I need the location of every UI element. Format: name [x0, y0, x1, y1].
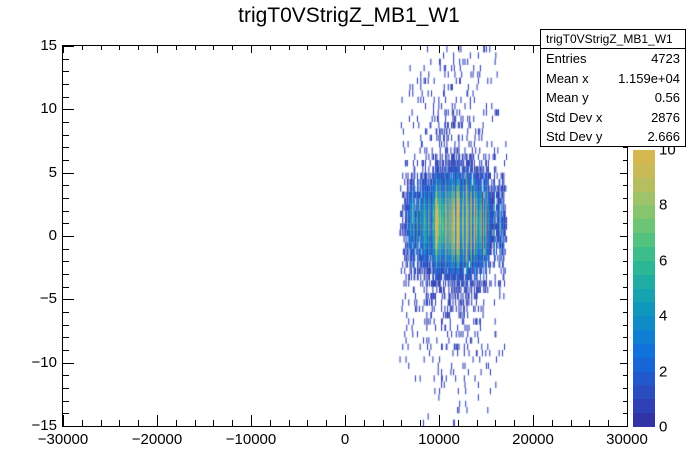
stats-row: Std Dev x2876	[541, 108, 685, 128]
colorbar-segment	[633, 260, 655, 274]
x-minor-tick	[589, 420, 590, 426]
x-major-tick-top	[157, 46, 158, 53]
colorbar-segment	[633, 413, 655, 427]
x-minor-tick-top	[326, 46, 327, 50]
x-major-tick	[627, 415, 628, 426]
plot-canvas: trigT0VStrigZ_MB1_W1 −30000−20000−100000…	[0, 0, 698, 476]
x-minor-tick	[608, 420, 609, 426]
y-major-tick-right	[620, 426, 627, 427]
x-axis-label: 0	[300, 431, 390, 448]
x-minor-tick-top	[82, 46, 83, 50]
x-major-tick	[439, 415, 440, 426]
colorbar-segment	[633, 150, 655, 164]
colorbar-segment	[633, 302, 655, 316]
y-minor-tick-right	[623, 350, 627, 351]
x-minor-tick-top	[213, 46, 214, 50]
y-minor-tick	[63, 59, 69, 60]
colorbar-segment	[633, 371, 655, 385]
y-minor-tick	[63, 122, 69, 123]
y-minor-tick	[63, 198, 69, 199]
y-minor-tick-right	[623, 223, 627, 224]
x-minor-tick-top	[195, 46, 196, 50]
y-major-tick-right	[620, 236, 627, 237]
y-minor-tick-right	[623, 185, 627, 186]
x-minor-tick-top	[119, 46, 120, 50]
x-minor-tick	[364, 420, 365, 426]
x-major-tick	[533, 415, 534, 426]
colorbar-segment	[633, 219, 655, 233]
x-minor-tick	[458, 420, 459, 426]
y-minor-tick	[63, 287, 69, 288]
y-minor-tick	[63, 249, 69, 250]
x-minor-tick	[477, 420, 478, 426]
y-minor-tick-right	[623, 413, 627, 414]
colorbar-segment	[633, 316, 655, 330]
y-minor-tick	[63, 350, 69, 351]
x-minor-tick-top	[138, 46, 139, 50]
y-minor-tick	[63, 71, 69, 72]
y-minor-tick	[63, 84, 69, 85]
stats-box: trigT0VStrigZ_MB1_W1 Entries4723Mean x1.…	[540, 29, 686, 147]
x-major-tick-top	[251, 46, 252, 53]
colorbar-segment	[633, 344, 655, 358]
x-minor-tick	[401, 420, 402, 426]
y-minor-tick	[63, 388, 69, 389]
stats-value: 2.666	[647, 127, 680, 147]
stats-box-title: trigT0VStrigZ_MB1_W1	[541, 30, 685, 49]
colorbar	[633, 150, 655, 427]
stats-value: 4723	[651, 49, 680, 69]
x-minor-tick	[383, 420, 384, 426]
y-minor-tick	[63, 274, 69, 275]
stats-row: Mean x1.159e+04	[541, 69, 685, 89]
x-major-tick-top	[345, 46, 346, 53]
y-major-tick-right	[620, 299, 627, 300]
page-title: trigT0VStrigZ_MB1_W1	[0, 4, 698, 28]
x-minor-tick	[82, 420, 83, 426]
stats-row: Std Dev y2.666	[541, 127, 685, 147]
y-minor-tick-right	[623, 287, 627, 288]
x-minor-tick	[176, 420, 177, 426]
x-major-tick	[157, 415, 158, 426]
colorbar-tick-label: 4	[659, 308, 667, 325]
y-axis-label: −10	[11, 354, 57, 371]
y-minor-tick	[63, 261, 69, 262]
x-minor-tick-top	[232, 46, 233, 50]
y-axis-label: 0	[11, 227, 57, 244]
x-major-tick	[63, 415, 64, 426]
y-minor-tick-right	[623, 147, 627, 148]
x-minor-tick	[307, 420, 308, 426]
x-axis-label: 10000	[394, 431, 484, 448]
x-minor-tick-top	[176, 46, 177, 50]
y-major-tick	[63, 46, 74, 47]
y-minor-tick	[63, 135, 69, 136]
x-minor-tick	[514, 420, 515, 426]
y-minor-tick	[63, 401, 69, 402]
x-minor-tick	[270, 420, 271, 426]
colorbar-segment	[633, 288, 655, 302]
stats-key: Std Dev x	[546, 108, 602, 128]
y-minor-tick-right	[623, 261, 627, 262]
y-axis-label: −15	[11, 417, 57, 434]
x-minor-tick-top	[383, 46, 384, 50]
x-minor-tick-top	[270, 46, 271, 50]
stats-key: Mean x	[546, 69, 589, 89]
x-minor-tick-top	[495, 46, 496, 50]
y-minor-tick-right	[623, 337, 627, 338]
stats-rows: Entries4723Mean x1.159e+04Mean y0.56Std …	[541, 49, 685, 147]
y-axis-label: −5	[11, 290, 57, 307]
x-minor-tick	[289, 420, 290, 426]
x-minor-tick-top	[364, 46, 365, 50]
y-minor-tick-right	[623, 274, 627, 275]
x-minor-tick-top	[514, 46, 515, 50]
stats-key: Mean y	[546, 88, 589, 108]
x-minor-tick-top	[307, 46, 308, 50]
colorbar-segment	[633, 357, 655, 371]
y-minor-tick	[63, 325, 69, 326]
y-minor-tick	[63, 375, 69, 376]
colorbar-gradient	[633, 150, 655, 427]
x-minor-tick	[571, 420, 572, 426]
colorbar-segment	[633, 247, 655, 261]
colorbar-segment	[633, 330, 655, 344]
x-minor-tick	[195, 420, 196, 426]
y-minor-tick	[63, 337, 69, 338]
x-minor-tick-top	[289, 46, 290, 50]
x-major-tick	[345, 415, 346, 426]
y-axis-label: 10	[11, 100, 57, 117]
y-major-tick-right	[620, 173, 627, 174]
colorbar-tick-label: 6	[659, 253, 667, 270]
x-minor-tick-top	[401, 46, 402, 50]
y-major-tick	[63, 299, 74, 300]
x-minor-tick	[213, 420, 214, 426]
y-axis-label: 15	[11, 37, 57, 54]
x-major-tick-top	[439, 46, 440, 53]
x-axis-label: −10000	[206, 431, 296, 448]
y-minor-tick-right	[623, 198, 627, 199]
y-minor-tick-right	[623, 160, 627, 161]
y-major-tick	[63, 173, 74, 174]
y-major-tick	[63, 363, 74, 364]
y-minor-tick-right	[623, 375, 627, 376]
y-minor-tick	[63, 211, 69, 212]
stats-value: 2876	[651, 108, 680, 128]
x-minor-tick	[119, 420, 120, 426]
x-minor-tick-top	[420, 46, 421, 50]
x-axis-label: 20000	[488, 431, 578, 448]
y-minor-tick	[63, 312, 69, 313]
y-minor-tick	[63, 223, 69, 224]
x-minor-tick	[326, 420, 327, 426]
y-minor-tick-right	[623, 401, 627, 402]
stats-key: Std Dev y	[546, 127, 602, 147]
y-minor-tick-right	[623, 249, 627, 250]
y-minor-tick-right	[623, 312, 627, 313]
stats-row: Entries4723	[541, 49, 685, 69]
colorbar-segment	[633, 274, 655, 288]
y-minor-tick	[63, 97, 69, 98]
stats-key: Entries	[546, 49, 586, 69]
x-major-tick-top	[533, 46, 534, 53]
y-axis-label: 5	[11, 164, 57, 181]
y-minor-tick	[63, 413, 69, 414]
y-minor-tick-right	[623, 388, 627, 389]
x-axis-label: −20000	[112, 431, 202, 448]
y-major-tick	[63, 236, 74, 237]
x-minor-tick	[232, 420, 233, 426]
colorbar-segment	[633, 191, 655, 205]
x-minor-tick-top	[477, 46, 478, 50]
y-minor-tick	[63, 147, 69, 148]
colorbar-tick-label: 0	[659, 419, 667, 436]
y-major-tick	[63, 426, 74, 427]
x-minor-tick	[552, 420, 553, 426]
colorbar-segment	[633, 163, 655, 177]
x-major-tick-top	[63, 46, 64, 53]
y-minor-tick-right	[623, 211, 627, 212]
x-minor-tick	[495, 420, 496, 426]
colorbar-segment	[633, 399, 655, 413]
x-minor-tick-top	[101, 46, 102, 50]
y-minor-tick	[63, 160, 69, 161]
colorbar-segment	[633, 385, 655, 399]
x-minor-tick-top	[458, 46, 459, 50]
y-major-tick-right	[620, 363, 627, 364]
x-minor-tick	[420, 420, 421, 426]
stats-row: Mean y0.56	[541, 88, 685, 108]
colorbar-segment	[633, 177, 655, 191]
y-major-tick	[63, 109, 74, 110]
colorbar-tick-label: 8	[659, 197, 667, 214]
x-minor-tick	[138, 420, 139, 426]
stats-value: 1.159e+04	[618, 69, 680, 89]
x-major-tick	[251, 415, 252, 426]
stats-value: 0.56	[655, 88, 680, 108]
colorbar-segment	[633, 205, 655, 219]
y-minor-tick-right	[623, 325, 627, 326]
y-minor-tick	[63, 185, 69, 186]
colorbar-tick-label: 2	[659, 364, 667, 381]
colorbar-segment	[633, 233, 655, 247]
x-minor-tick	[101, 420, 102, 426]
